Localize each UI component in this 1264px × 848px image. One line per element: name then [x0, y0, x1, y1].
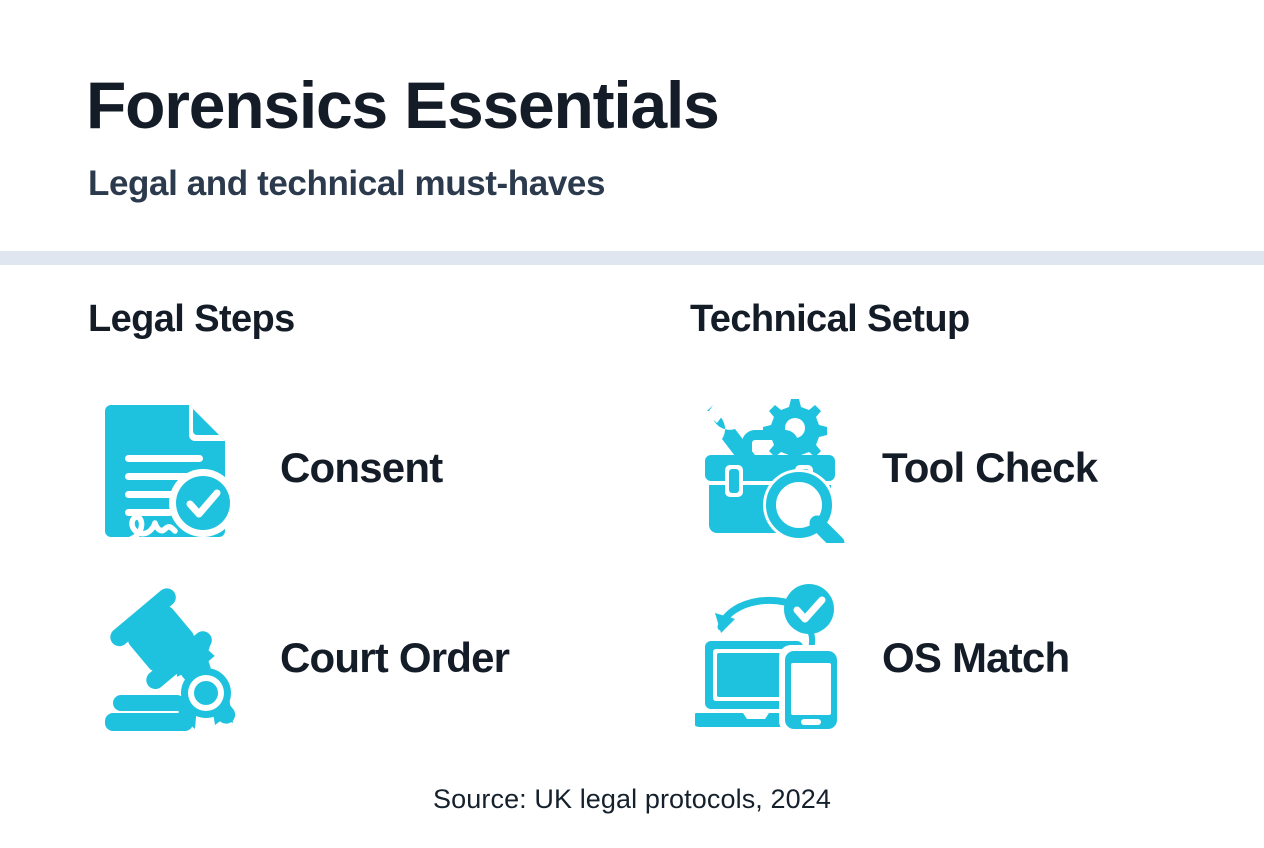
- list-item[interactable]: Court Order: [88, 578, 688, 738]
- laptop-phone-check-icon: [690, 578, 850, 738]
- header-divider: [0, 251, 1264, 265]
- infographic-page: Forensics Essentials Legal and technical…: [0, 0, 1264, 848]
- page-title: Forensics Essentials: [86, 72, 719, 138]
- signed-document-icon: [88, 388, 248, 548]
- list-item[interactable]: Consent: [88, 388, 688, 548]
- column-heading-legal-steps: Legal Steps: [88, 300, 688, 338]
- list-item[interactable]: OS Match: [690, 578, 1264, 738]
- gavel-seal-icon: [88, 578, 248, 738]
- list-item-label: Tool Check: [882, 447, 1097, 489]
- source-note: Source: UK legal protocols, 2024: [0, 784, 1264, 815]
- column-technical-setup: Technical Setup: [690, 300, 1264, 768]
- header: Forensics Essentials Legal and technical…: [0, 0, 1264, 251]
- column-heading-technical-setup: Technical Setup: [690, 300, 1264, 338]
- toolbox-magnifier-icon: [690, 388, 850, 548]
- page-subtitle: Legal and technical must-haves: [88, 166, 605, 201]
- list-item[interactable]: Tool Check: [690, 388, 1264, 548]
- item-list-technical-setup: Tool Check: [690, 388, 1264, 738]
- list-item-label: OS Match: [882, 637, 1069, 679]
- list-item-label: Consent: [280, 447, 442, 489]
- column-legal-steps: Legal Steps: [88, 300, 688, 768]
- list-item-label: Court Order: [280, 637, 509, 679]
- item-list-legal-steps: Consent: [88, 388, 688, 738]
